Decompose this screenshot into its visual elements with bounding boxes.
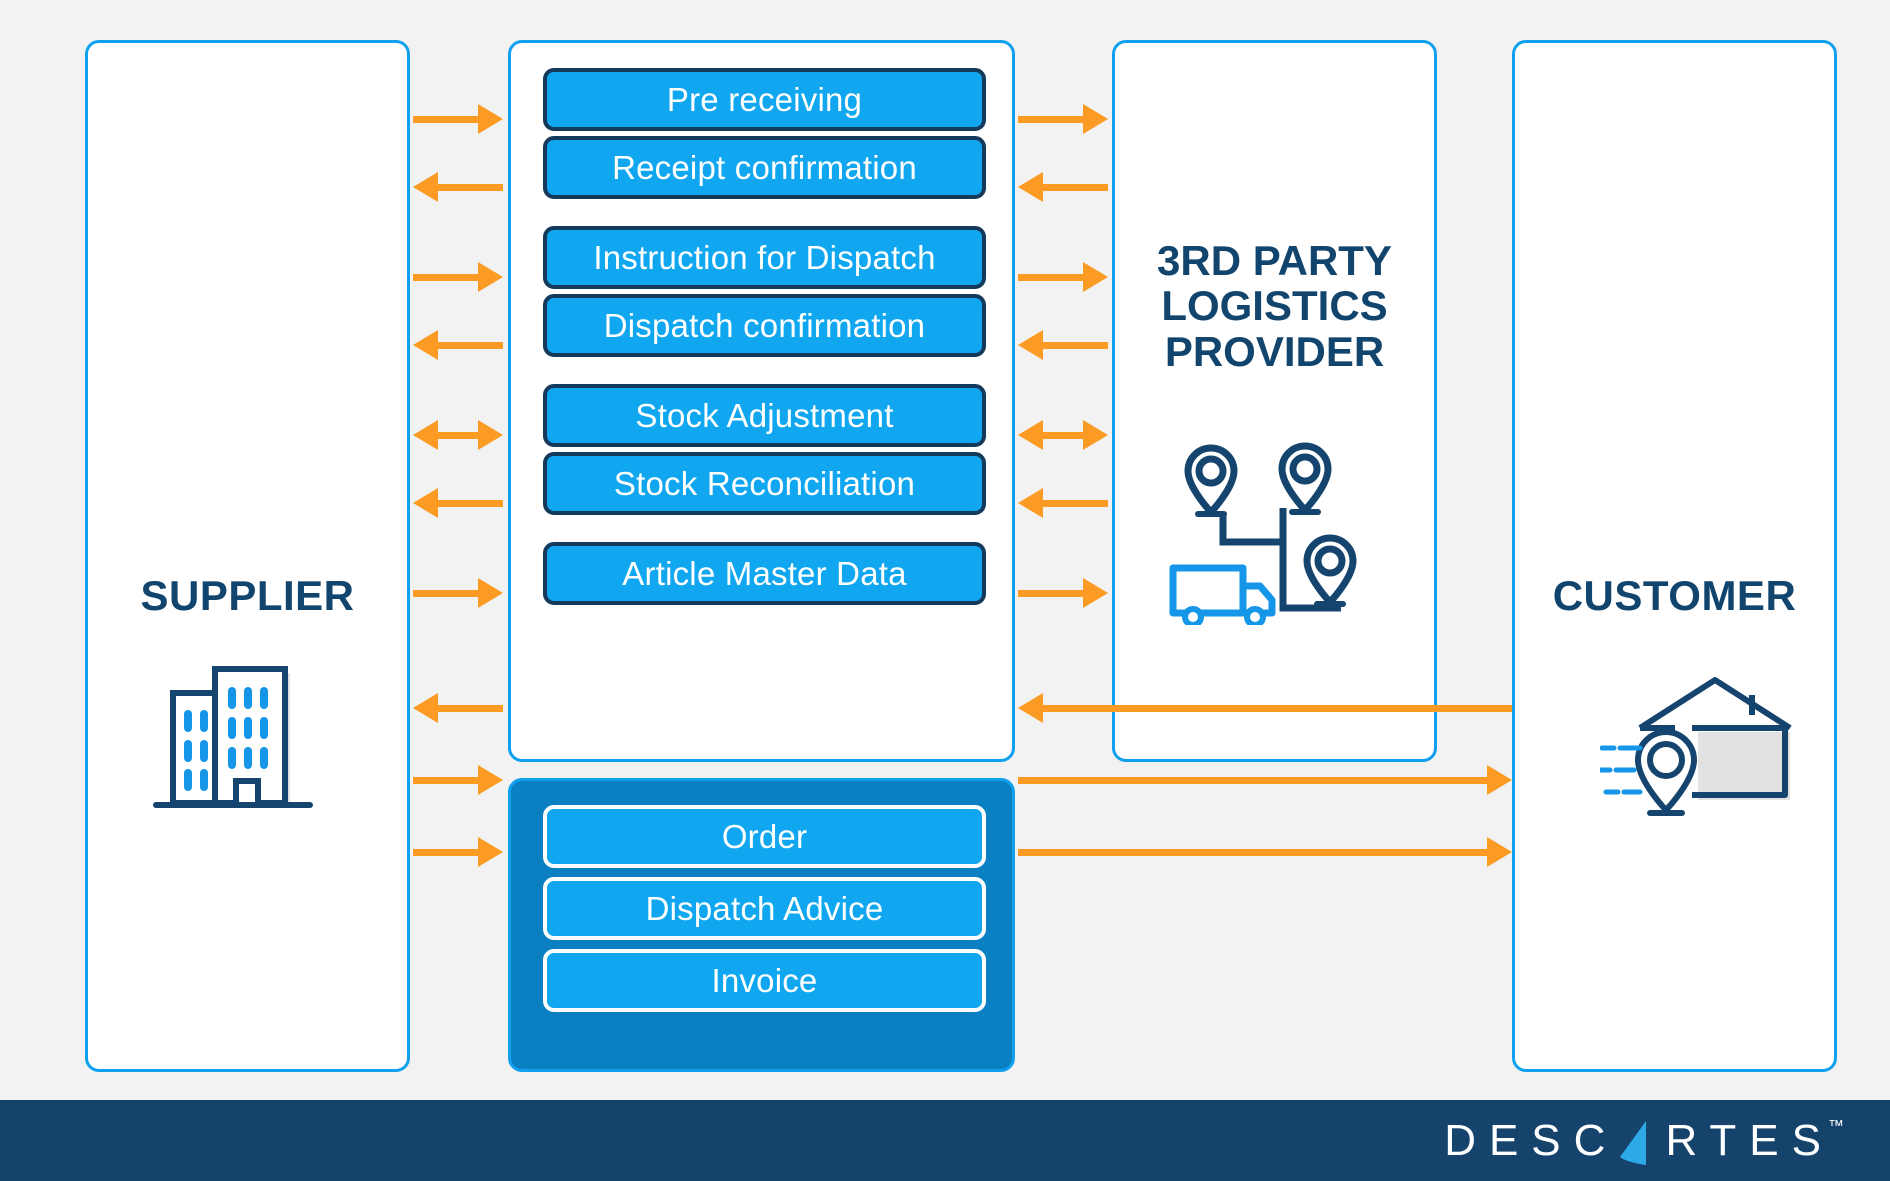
logo-text-part-2: RTES bbox=[1665, 1116, 1834, 1166]
third-party-logistics-panel: 3RD PARTY LOGISTICS PROVIDER bbox=[1112, 40, 1437, 762]
chip-article-master-data[interactable]: Article Master Data bbox=[543, 542, 986, 605]
office-buildings-icon bbox=[148, 655, 318, 815]
order-message-group-panel: Order Dispatch Advice Invoice bbox=[508, 778, 1015, 1072]
chip-receipt-confirmation[interactable]: Receipt confirmation bbox=[543, 136, 986, 199]
chip-instruction-for-dispatch[interactable]: Instruction for Dispatch bbox=[543, 226, 986, 289]
tpl-title-line-3: PROVIDER bbox=[1115, 329, 1434, 374]
chip-invoice[interactable]: Invoice bbox=[543, 949, 986, 1012]
customer-panel: CUSTOMER bbox=[1512, 40, 1837, 1072]
descartes-logo: DESC RTES ™ bbox=[1444, 1100, 1844, 1181]
delivery-truck-route-icon bbox=[1165, 440, 1385, 625]
footer-bar: DESC RTES ™ bbox=[0, 1100, 1890, 1181]
chip-pre-receiving[interactable]: Pre receiving bbox=[543, 68, 986, 131]
chip-dispatch-advice[interactable]: Dispatch Advice bbox=[543, 877, 986, 940]
chip-order[interactable]: Order bbox=[543, 805, 986, 868]
supplier-title: SUPPLIER bbox=[88, 573, 407, 618]
chip-dispatch-confirmation[interactable]: Dispatch confirmation bbox=[543, 294, 986, 357]
tpl-title-line-1: 3RD PARTY bbox=[1115, 238, 1434, 283]
third-party-title: 3RD PARTY LOGISTICS PROVIDER bbox=[1115, 238, 1434, 374]
chip-stock-adjustment[interactable]: Stock Adjustment bbox=[543, 384, 986, 447]
trademark-symbol: ™ bbox=[1828, 1118, 1844, 1136]
diagram-canvas: SUPPLIER bbox=[0, 0, 1890, 1181]
chip-stock-reconciliation[interactable]: Stock Reconciliation bbox=[543, 452, 986, 515]
customer-title: CUSTOMER bbox=[1515, 573, 1834, 618]
house-location-pin-icon bbox=[1600, 670, 1815, 840]
logo-text-part-1: DESC bbox=[1444, 1116, 1618, 1166]
message-center-panel: Pre receiving Receipt confirmation Instr… bbox=[508, 40, 1015, 762]
descartes-wordmark: DESC RTES bbox=[1444, 1116, 1834, 1166]
tpl-title-line-2: LOGISTICS bbox=[1115, 283, 1434, 328]
descartes-sail-icon bbox=[1620, 1121, 1654, 1165]
supplier-panel: SUPPLIER bbox=[85, 40, 410, 1072]
